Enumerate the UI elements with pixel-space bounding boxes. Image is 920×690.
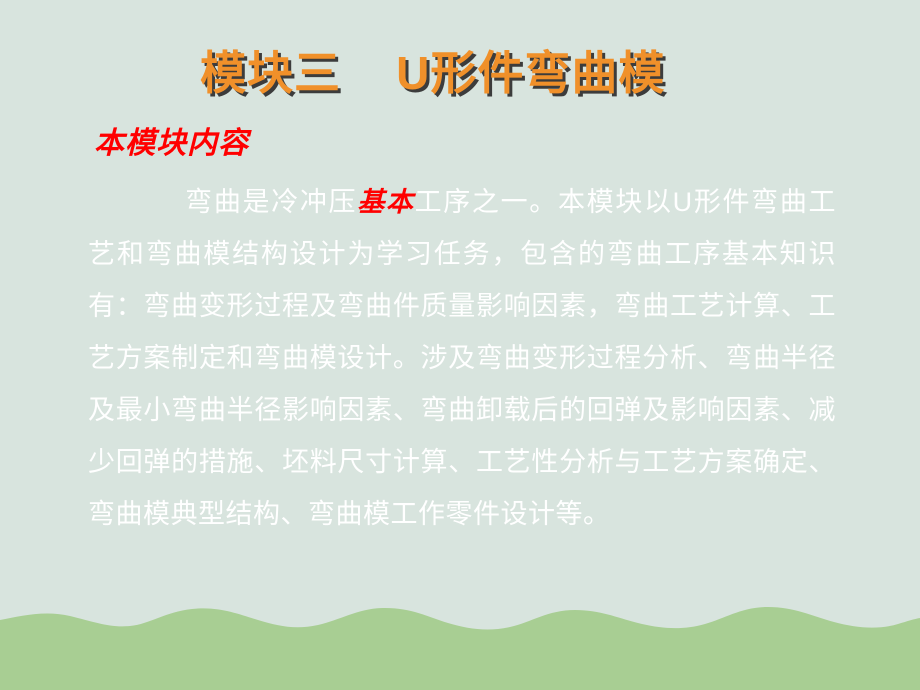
slide-title: 模块三 U形件弯曲模	[200, 46, 665, 101]
body-segment-2: 工序之一。本模块以U形件弯曲工艺和弯曲模结构设计为学习任务，包含的弯曲工序基本知…	[88, 187, 836, 529]
wave-path	[0, 607, 920, 690]
wave-shape	[0, 590, 920, 690]
presentation-slide: 模块三 U形件弯曲模 本模块内容 弯曲是冷冲压基本工序之一。本模块以U形件弯曲工…	[0, 0, 920, 690]
bottom-wave-decoration	[0, 590, 920, 690]
body-segment-emphasis: 基本	[357, 187, 414, 217]
body-paragraph: 弯曲是冷冲压基本工序之一。本模块以U形件弯曲工艺和弯曲模结构设计为学习任务，包含…	[88, 176, 836, 540]
section-heading: 本模块内容	[94, 126, 249, 162]
body-segment-1: 弯曲是冷冲压	[184, 187, 357, 217]
